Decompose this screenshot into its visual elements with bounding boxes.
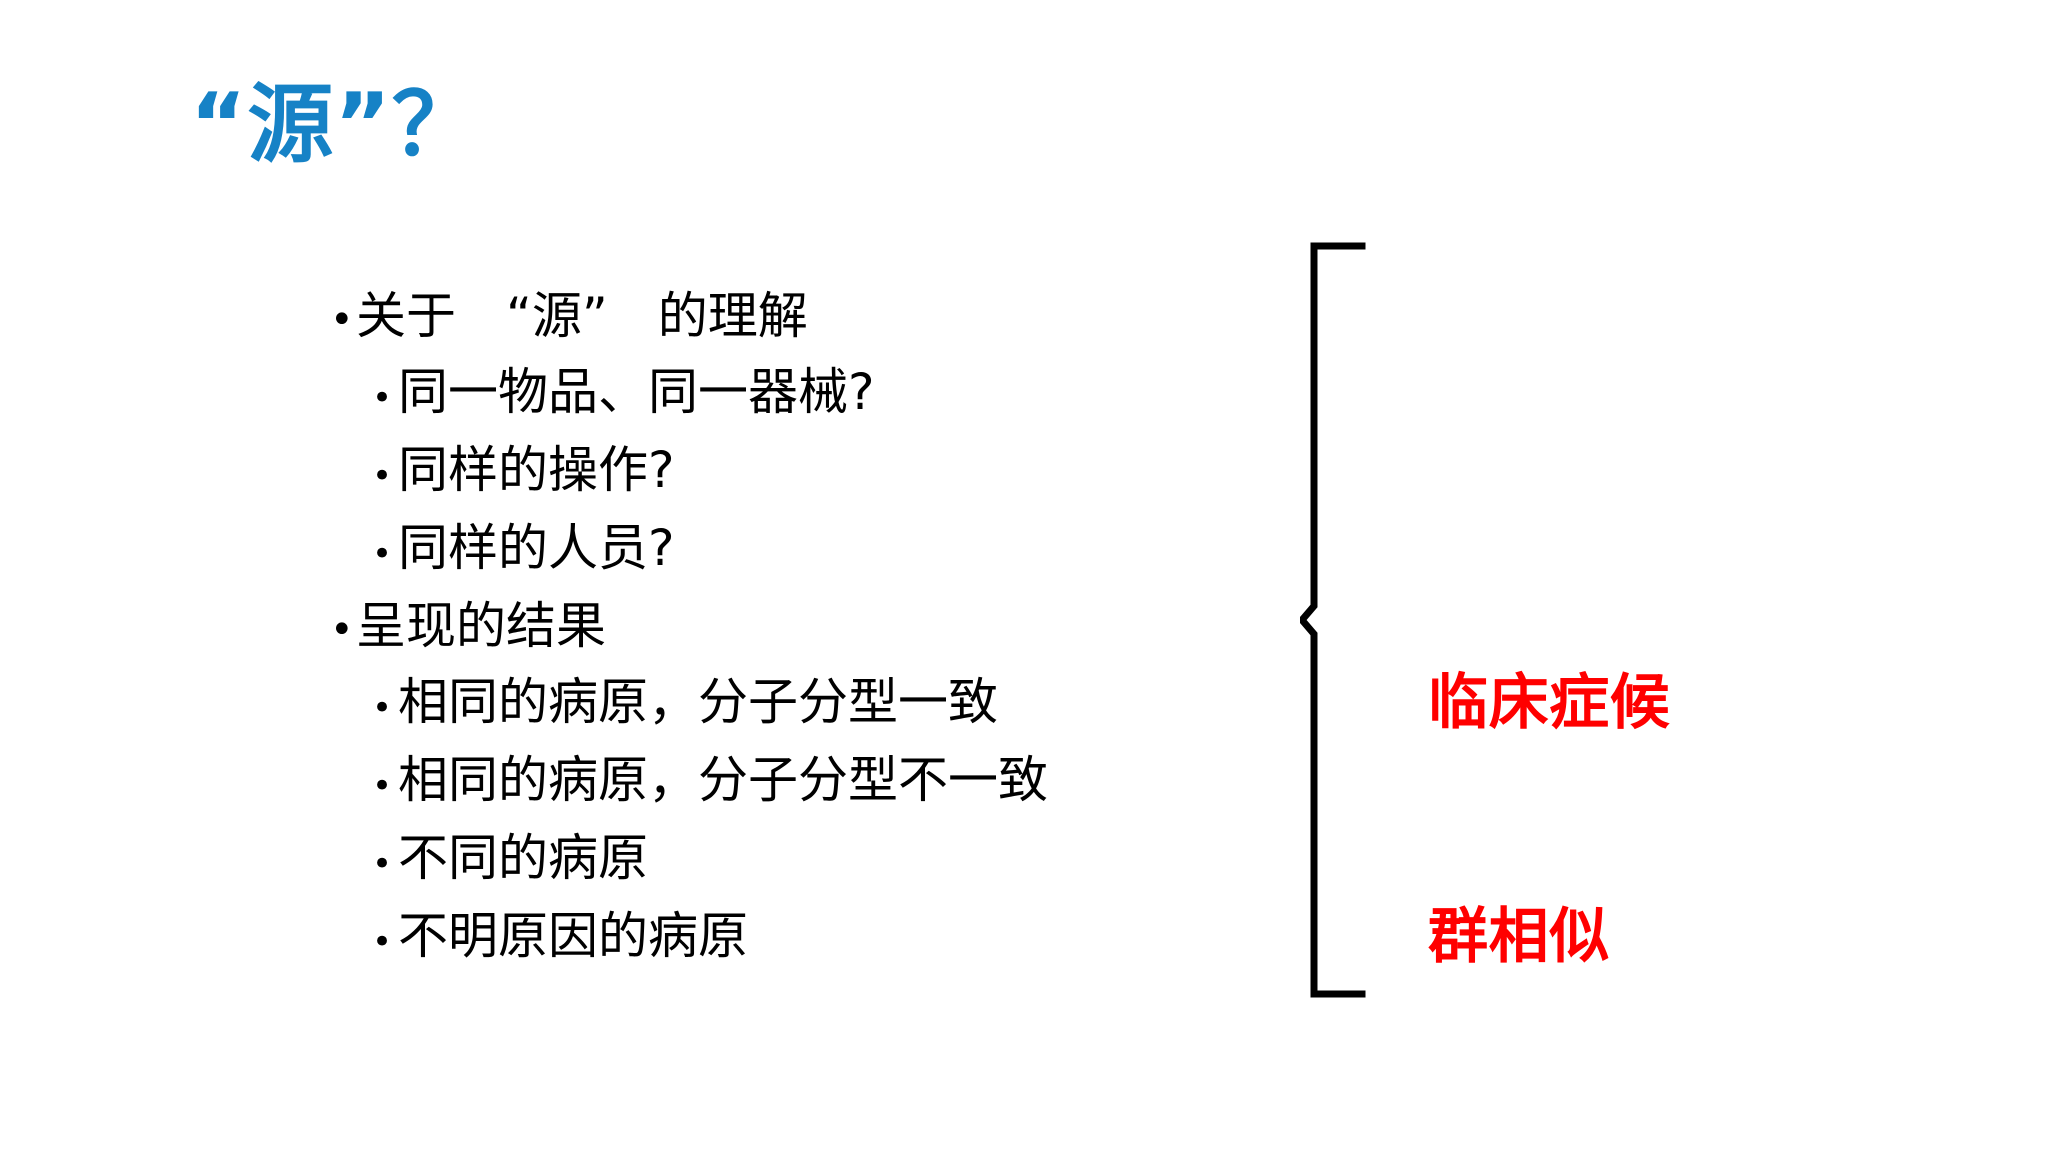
bullet-icon: • — [372, 518, 398, 590]
bullet-icon: • — [372, 828, 398, 900]
annotation-group: 临床症候 群相似 — [1300, 240, 2000, 1000]
bullet-icon: • — [372, 362, 398, 434]
list-item-label: 相同的病原，分子分型一致 — [398, 666, 998, 738]
bullet-icon: • — [372, 672, 398, 744]
bullet-icon: • — [330, 594, 356, 666]
list-item: • 呈现的结果 — [330, 590, 1230, 666]
bullet-icon: • — [372, 906, 398, 978]
list-item: • 相同的病原，分子分型一致 — [372, 666, 1230, 744]
annotation-line-1: 临床症候 — [1428, 664, 1670, 742]
annotation-text: 临床症候 群相似 — [1428, 508, 1670, 1132]
list-item: • 不明原因的病原 — [372, 900, 1230, 978]
right-curly-brace-icon — [1300, 240, 1420, 1000]
outline-list: • 关于 “源” 的理解 • 同一物品、同一器械? • 同样的操作? • 同样的… — [330, 280, 1230, 978]
list-item: • 同样的人员? — [372, 512, 1230, 590]
list-item-label: 同样的操作? — [398, 434, 675, 506]
page-title: “源”？ — [190, 80, 478, 170]
slide-canvas: “源”？ • 关于 “源” 的理解 • 同一物品、同一器械? • 同样的操作? … — [0, 0, 2048, 1152]
bullet-icon: • — [330, 284, 356, 356]
list-item: • 不同的病原 — [372, 822, 1230, 900]
list-item-label: 不同的病原 — [398, 822, 648, 894]
list-item-label: 同样的人员? — [398, 512, 675, 584]
list-item-label: 呈现的结果 — [356, 590, 606, 662]
list-item-label: 相同的病原，分子分型不一致 — [398, 744, 1048, 816]
list-item-label: 同一物品、同一器械? — [398, 356, 875, 428]
bullet-icon: • — [372, 440, 398, 512]
bullet-icon: • — [372, 750, 398, 822]
list-item-label: 不明原因的病原 — [398, 900, 748, 972]
list-item: • 相同的病原，分子分型不一致 — [372, 744, 1230, 822]
list-item: • 同一物品、同一器械? — [372, 356, 1230, 434]
list-item: • 关于 “源” 的理解 — [330, 280, 1230, 356]
list-item-label: 关于 “源” 的理解 — [356, 280, 808, 352]
annotation-line-2: 群相似 — [1428, 898, 1670, 976]
list-item: • 同样的操作? — [372, 434, 1230, 512]
